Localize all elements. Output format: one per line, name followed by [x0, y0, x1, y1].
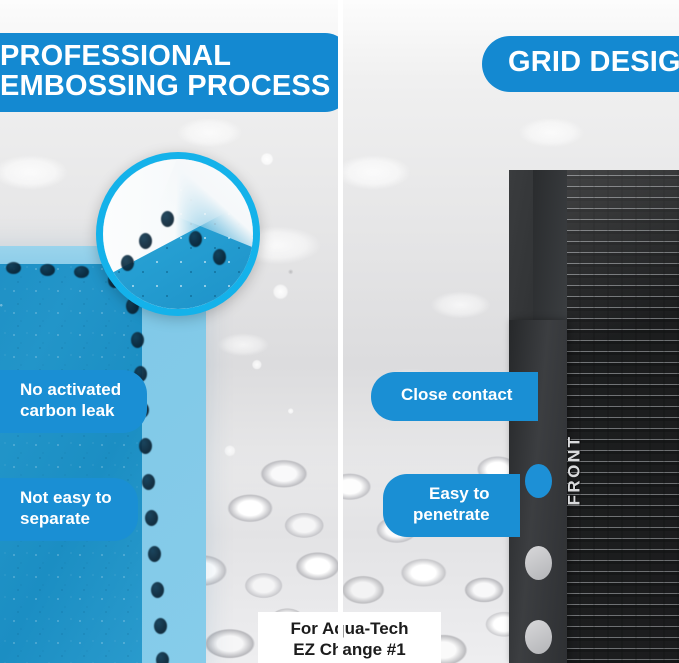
emboss-dot — [74, 266, 89, 278]
callout-easy-to-penetrate: Easy to penetrate — [383, 474, 520, 537]
cartridge-grid-highlight — [553, 170, 679, 430]
panel-left-embossing: PROFESSIONAL EMBOSSING PROCESS No activa… — [0, 0, 338, 663]
magnified-emboss-dot — [161, 211, 174, 227]
product-compatibility-caption: For Aqua-Tech EZ Change #1 — [258, 612, 441, 663]
callout-no-activated-carbon-leak: No activated carbon leak — [0, 370, 147, 433]
rail-hole — [525, 620, 552, 654]
magnified-emboss-dot — [139, 233, 152, 249]
panel-right-grid-design: FRONT GRID DESIGN Close contact Easy to … — [343, 0, 679, 663]
magnified-emboss-dot — [213, 249, 226, 265]
callout-1-line2: carbon leak — [20, 401, 121, 422]
callout-4-line1: Easy to — [413, 484, 490, 505]
callout-3-line1: Close contact — [401, 385, 512, 406]
callout-4-line2: penetrate — [413, 505, 490, 526]
rail-hole-highlighted — [525, 464, 552, 498]
emboss-dot — [6, 262, 21, 274]
magnified-emboss-dot — [121, 255, 134, 271]
infographic-canvas: PROFESSIONAL EMBOSSING PROCESS No activa… — [0, 0, 679, 663]
headline-left-line1: PROFESSIONAL — [0, 42, 331, 72]
emboss-dot — [40, 264, 55, 276]
emboss-dot — [148, 546, 161, 562]
front-embossed-label: FRONT — [563, 418, 587, 522]
pad-inner-surface — [0, 264, 142, 663]
rail-hole — [525, 546, 552, 580]
emboss-dot — [131, 332, 144, 348]
caption-line2: EZ Change #1 — [268, 639, 431, 660]
headline-grid-design: GRID DESIGN — [482, 36, 679, 92]
magnified-emboss-dot — [189, 231, 202, 247]
pad-foam-texture — [0, 264, 142, 663]
headline-embossing-process: PROFESSIONAL EMBOSSING PROCESS — [0, 33, 338, 112]
headline-right-line1: GRID DESIGN — [508, 48, 679, 78]
callout-2-line2: separate — [20, 509, 112, 530]
panel-divider — [338, 0, 343, 663]
emboss-dot — [156, 652, 169, 663]
caption-line1: For Aqua-Tech — [268, 618, 431, 639]
emboss-dot — [142, 474, 155, 490]
emboss-dot — [139, 438, 152, 454]
magnifier-circle-icon — [96, 152, 260, 316]
emboss-dot — [154, 618, 167, 634]
callout-not-easy-to-separate: Not easy to separate — [0, 478, 138, 541]
emboss-dot — [145, 510, 158, 526]
callout-close-contact: Close contact — [371, 372, 538, 421]
emboss-dot — [151, 582, 164, 598]
callout-2-line1: Not easy to — [20, 488, 112, 509]
cartridge-rail-top — [533, 170, 567, 330]
headline-left-line2: EMBOSSING PROCESS — [0, 72, 331, 102]
front-label-text: FRONT — [565, 434, 585, 505]
callout-1-line1: No activated — [20, 380, 121, 401]
